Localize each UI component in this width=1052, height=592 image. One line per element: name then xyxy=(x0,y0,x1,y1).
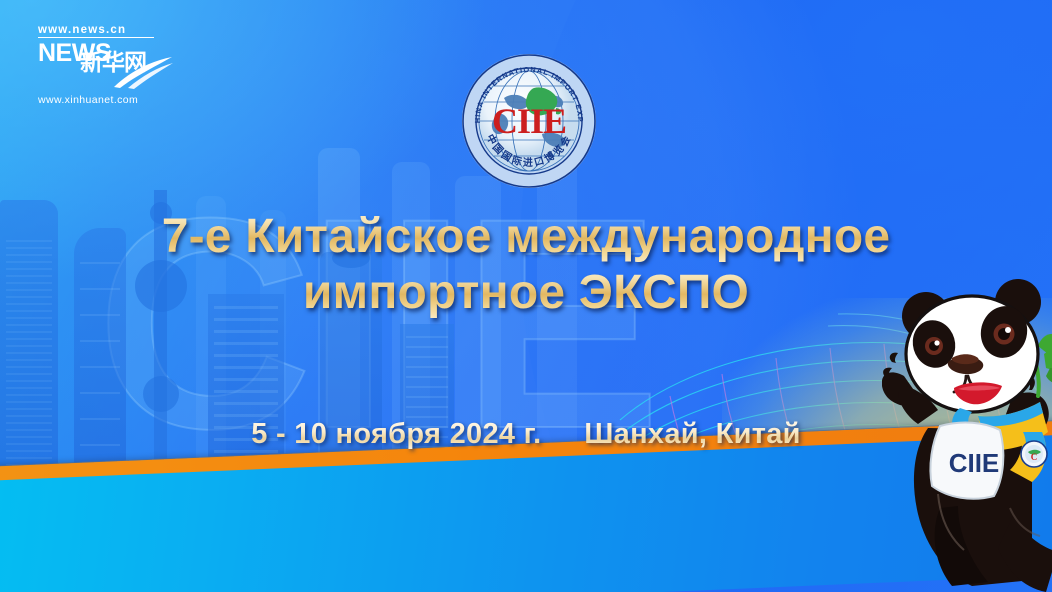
event-date: 5 - 10 ноября 2024 г. xyxy=(251,418,541,450)
svg-text:C: C xyxy=(1031,452,1038,462)
emblem-center-text: CIIE xyxy=(492,101,566,141)
ciie-logo: CHINA INTERNATIONAL IMPORT EXPO 中国国际进口博览… xyxy=(460,52,598,190)
xinhua-news-logo[interactable]: www.news.cn NEWS 新华网 www.xinhuanet.com xyxy=(38,24,170,116)
panda-bib: CIIE xyxy=(930,423,1003,499)
panda-bib-text: CIIE xyxy=(949,448,1000,478)
swoosh-icon xyxy=(112,55,174,89)
xinhua-top-url: www.news.cn xyxy=(38,24,154,38)
event-location: Шанхай, Китай xyxy=(584,418,801,450)
panda-head xyxy=(906,296,1038,412)
ciie-promo-banner: CIIE xyxy=(0,0,1052,592)
xinhua-bottom-url: www.xinhuanet.com xyxy=(38,94,170,106)
jinbao-panda-mascot: C CIIE xyxy=(882,258,1052,592)
